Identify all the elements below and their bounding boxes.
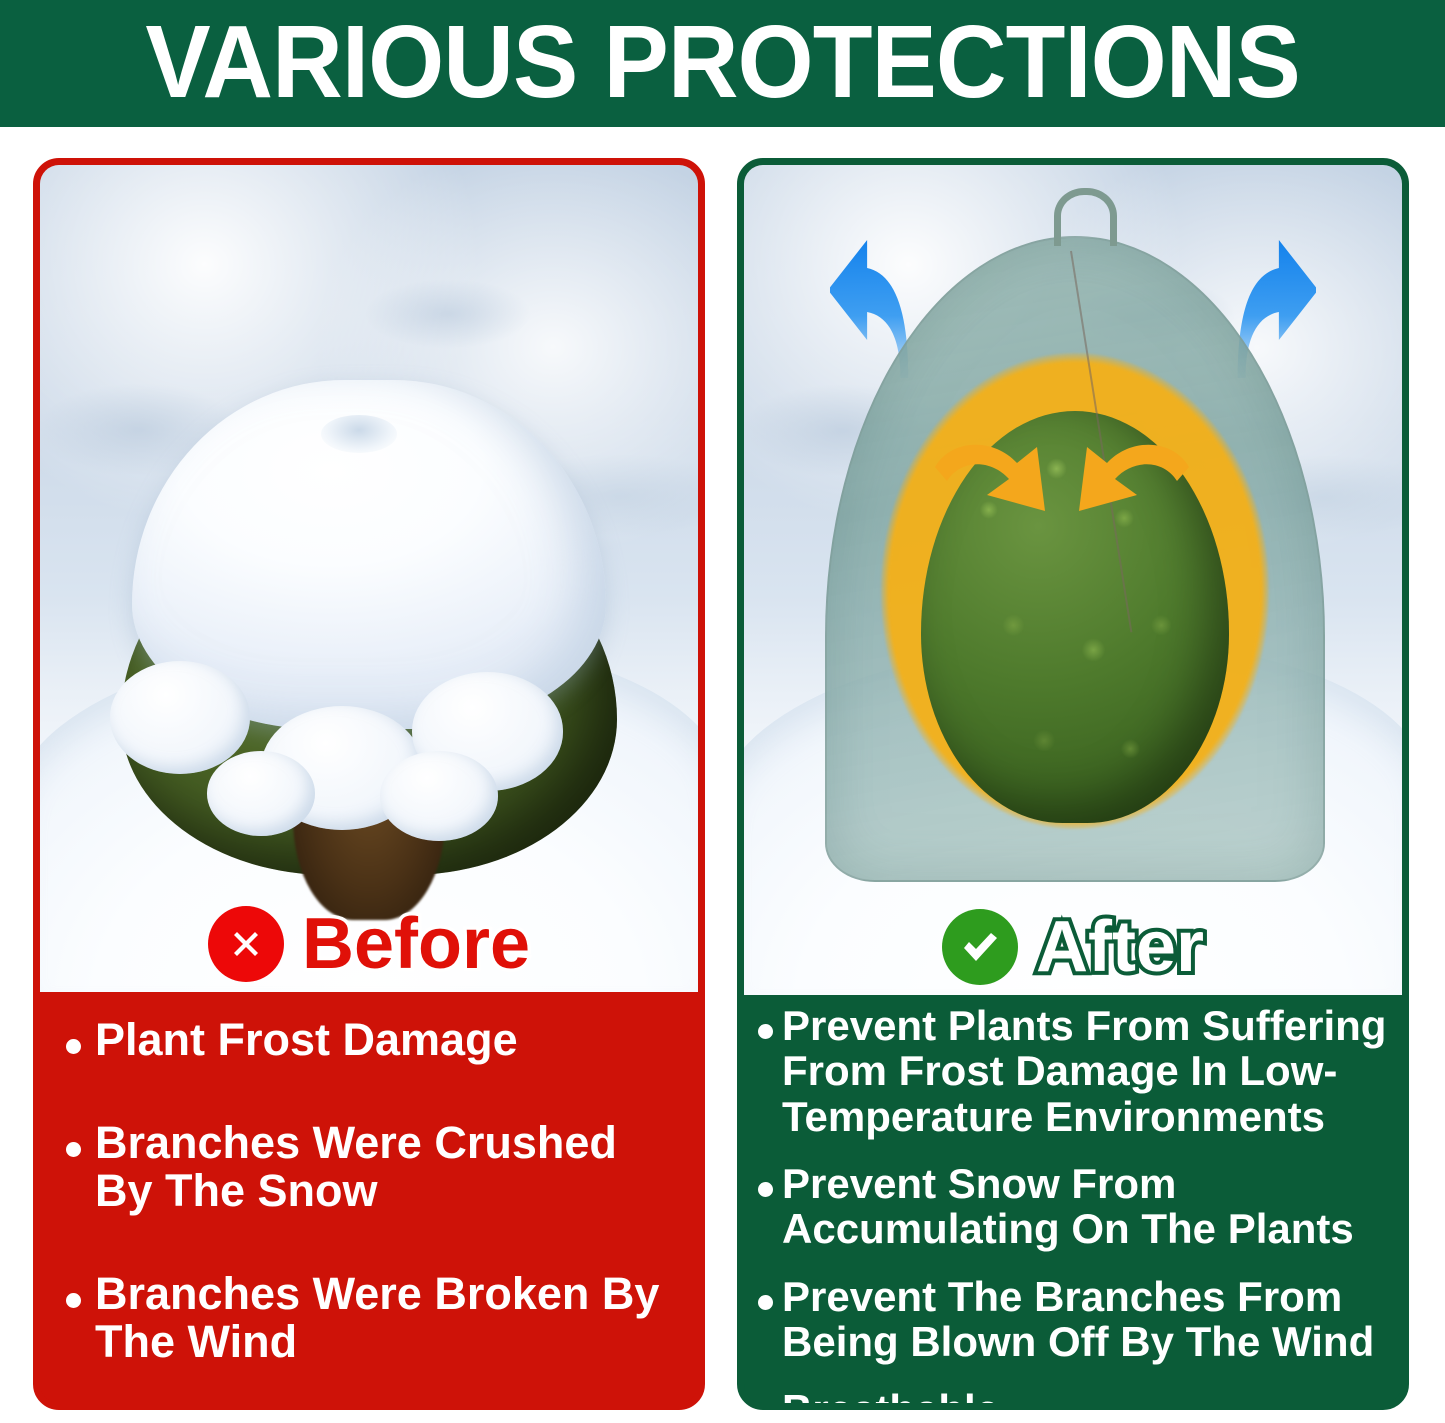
list-item-label: Plant Frost Damage [95, 1016, 518, 1065]
snow-lump [207, 751, 315, 835]
list-item-label: Prevent The Branches From Being Blown Of… [782, 1274, 1392, 1365]
list-item-label: Prevent Snow From Accumulating On The Pl… [782, 1161, 1392, 1252]
after-panel: After Prevent Plants From Suffering From… [737, 158, 1409, 1410]
bullet-dot-icon [758, 1182, 773, 1197]
list-item: Prevent Snow From Accumulating On The Pl… [758, 1161, 1392, 1252]
bullet-dot-icon [758, 1024, 773, 1039]
snow-lump [110, 661, 250, 773]
after-photo: After [744, 165, 1402, 995]
plant-cover-assembly [803, 207, 1343, 937]
header-banner: VARIOUS PROTECTIONS [0, 0, 1445, 127]
list-item: Prevent The Branches From Being Blown Of… [758, 1274, 1392, 1365]
list-item-label: Branches Were Broken By The Wind [95, 1270, 680, 1367]
list-item: Breathable [758, 1387, 1392, 1410]
bullet-dot-icon [66, 1039, 81, 1054]
snow-lump [380, 751, 499, 841]
bullet-dot-icon [758, 1408, 773, 1410]
before-panel: Before Plant Frost Damage Branches Were … [33, 158, 705, 1410]
before-badge: Before [40, 906, 698, 982]
list-item: Prevent Plants From Suffering From Frost… [758, 1003, 1392, 1139]
after-badge-label: After [1036, 911, 1204, 983]
cover-handle [1054, 188, 1117, 246]
warmth-arrow-inward-right-icon [1073, 433, 1191, 519]
before-badge-label: Before [302, 908, 530, 980]
after-badge: After [744, 909, 1402, 985]
cross-circle-icon [208, 906, 284, 982]
snow-covered-bush [99, 380, 639, 942]
before-bullet-list: Plant Frost Damage Branches Were Crushed… [40, 992, 698, 1403]
bullet-dot-icon [66, 1293, 81, 1308]
list-item-label: Prevent Plants From Suffering From Frost… [782, 1003, 1392, 1139]
warmth-arrow-inward-left-icon [933, 433, 1051, 519]
page-title: VARIOUS PROTECTIONS [145, 10, 1299, 113]
list-item-label: Branches Were Crushed By The Snow [95, 1119, 680, 1216]
before-photo: Before [40, 165, 698, 992]
after-bullet-list: Prevent Plants From Suffering From Frost… [744, 995, 1402, 1403]
check-circle-icon [942, 909, 1018, 985]
list-item: Plant Frost Damage [66, 1016, 680, 1065]
bullet-dot-icon [66, 1142, 81, 1157]
comparison-columns: Before Plant Frost Damage Branches Were … [0, 127, 1445, 1423]
list-item-label: Breathable [782, 1387, 999, 1410]
list-item: Branches Were Broken By The Wind [66, 1270, 680, 1367]
list-item: Branches Were Crushed By The Snow [66, 1119, 680, 1216]
bullet-dot-icon [758, 1295, 773, 1310]
